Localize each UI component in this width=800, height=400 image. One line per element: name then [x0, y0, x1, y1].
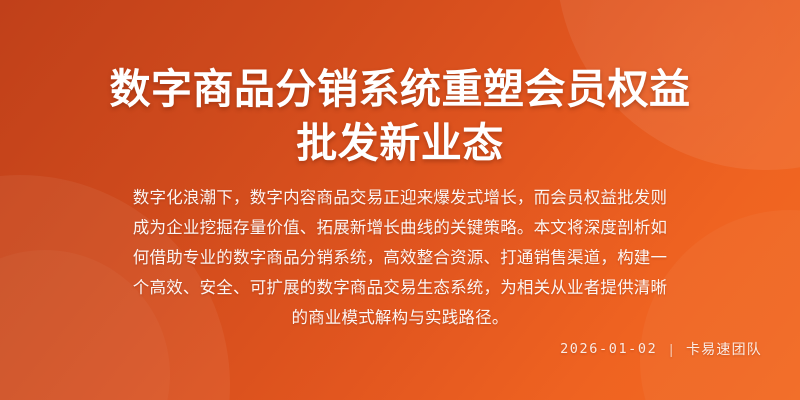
- article-summary: 数字化浪潮下，数字内容商品交易正迎来爆发式增长，而会员权益批发则 成为企业挖掘存…: [70, 183, 730, 333]
- article-summary-line-1: 数字化浪潮下，数字内容商品交易正迎来爆发式增长，而会员权益批发则: [70, 183, 730, 213]
- article-summary-line-3: 何借助专业的数字商品分销系统，高效整合资源、打通销售渠道，构建一: [70, 243, 730, 273]
- banner-content: 数字商品分销系统重塑会员权益 批发新业态 数字化浪潮下，数字内容商品交易正迎来爆…: [0, 0, 800, 400]
- article-summary-line-5: 的商业模式解构与实践路径。: [70, 303, 730, 333]
- page-title-line-1: 数字商品分销系统重塑会员权益: [50, 62, 750, 116]
- article-cover-banner: 数字商品分销系统重塑会员权益 批发新业态 数字化浪潮下，数字内容商品交易正迎来爆…: [0, 0, 800, 400]
- article-summary-line-4: 个高效、安全、可扩展的数字商品交易生态系统，为相关从业者提供清晰: [70, 273, 730, 303]
- page-title: 数字商品分销系统重塑会员权益 批发新业态: [50, 62, 750, 170]
- page-title-line-2: 批发新业态: [50, 116, 750, 170]
- article-summary-line-2: 成为企业挖掘存量价值、拓展新增长曲线的关键策略。本文将深度剖析如: [70, 213, 730, 243]
